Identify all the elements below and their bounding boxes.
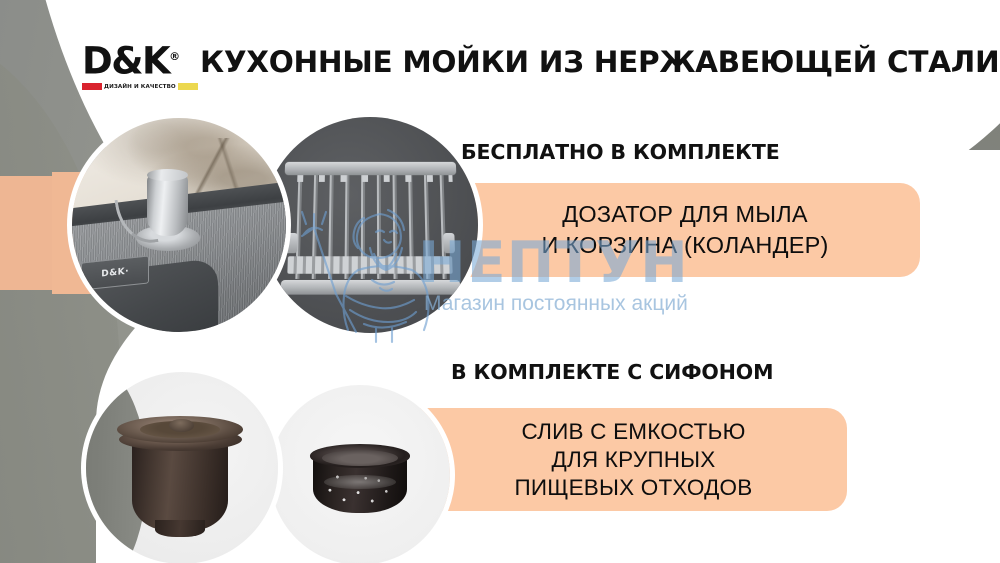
basket-rim-inner xyxy=(322,450,398,466)
section-heading-free-included: БЕСПЛАТНО В КОМПЛЕКТЕ xyxy=(461,140,780,164)
tagline-bar-yellow-icon xyxy=(178,83,198,90)
strainer-foot xyxy=(155,520,205,537)
colander-slatted-base xyxy=(287,257,452,274)
sink-brand-badge-text: D&K· xyxy=(101,267,129,280)
panel-line-1: ДОЗАТОР ДЛЯ МЫЛА xyxy=(562,201,808,227)
dispenser-pump-top xyxy=(147,169,188,181)
brand-logo-wordmark: D&K xyxy=(82,39,169,82)
product-photo-soap-dispenser: D&K· xyxy=(72,118,286,332)
product-photo-colander xyxy=(262,117,478,333)
colander-clip-left xyxy=(285,233,298,253)
product-photo-waste-basket xyxy=(270,385,450,563)
brand-tagline-text: ДИЗАЙН И КАЧЕСТВО xyxy=(102,84,178,90)
colander-rack xyxy=(284,162,457,287)
colander-image xyxy=(262,117,478,333)
registered-trademark-icon: ® xyxy=(169,50,180,63)
panel-line-1: СЛИВ С ЕМКОСТЬЮ xyxy=(521,419,745,444)
section-heading-with-siphon: В КОМПЛЕКТЕ С СИФОНОМ xyxy=(451,360,773,384)
colander-clip-right xyxy=(443,233,456,253)
panel-line-2: ДЛЯ КРУПНЫХ xyxy=(552,447,716,472)
brand-tagline-row: ДИЗАЙН И КАЧЕСТВО xyxy=(82,83,190,90)
strainer-body xyxy=(132,441,228,531)
colander-top-bar xyxy=(284,162,456,175)
brand-logo: D&K® ДИЗАЙН И КАЧЕСТВО xyxy=(82,38,194,90)
soap-dispenser-image: D&K· xyxy=(72,118,286,332)
drain-strainer-image xyxy=(86,372,278,563)
tagline-bar-red-icon xyxy=(82,83,102,90)
page-title: КУХОННЫЕ МОЙКИ ИЗ НЕРЖАВЕЮЩЕЙ СТАЛИ xyxy=(200,45,999,79)
colander-bottom-bar xyxy=(280,280,460,294)
product-photo-drain-strainer xyxy=(86,372,278,563)
waste-basket-image xyxy=(270,385,450,563)
promo-banner: D&K® ДИЗАЙН И КАЧЕСТВО КУХОННЫЕ МОЙКИ ИЗ… xyxy=(0,0,1000,563)
panel-line-3: ПИЩЕВЫХ ОТХОДОВ xyxy=(515,475,753,500)
brand-logo-text: D&K® xyxy=(82,38,194,80)
panel-line-2: И КОРЗИНА (КОЛАНДЕР) xyxy=(542,232,829,258)
